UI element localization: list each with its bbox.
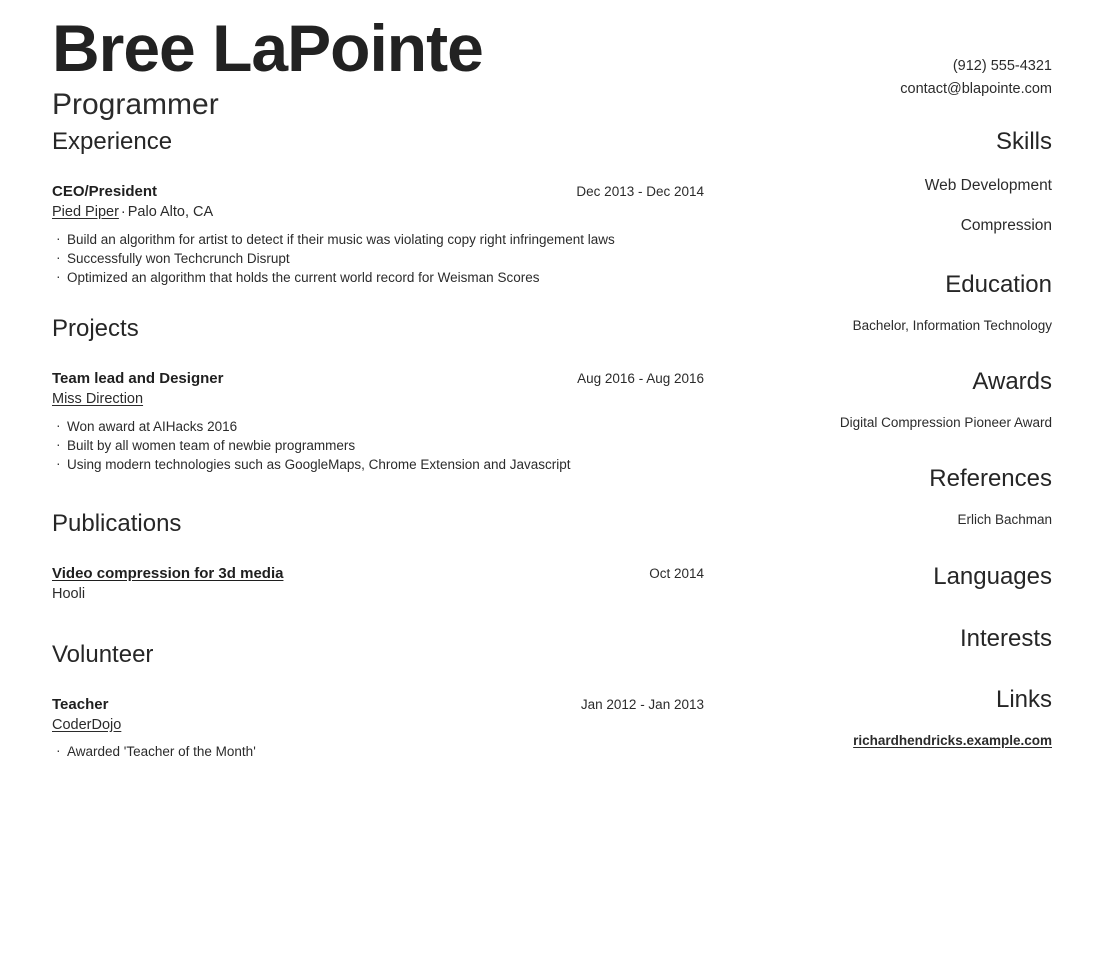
resume-header: Bree LaPointe Programmer (912) 555-4321 …	[52, 0, 1052, 128]
entry-date: Oct 2014	[649, 565, 704, 583]
reference-item: Erlich Bachman	[740, 510, 1052, 530]
entry-header: CEO/President Dec 2013 - Dec 2014	[52, 182, 704, 202]
contact-block: (912) 555-4321 contact@blapointe.com	[900, 55, 1052, 102]
section-heading-awards: Awards	[740, 368, 1052, 397]
section-heading-publications: Publications	[52, 510, 704, 539]
entry-highlights: Won award at AIHacks 2016 Built by all w…	[52, 417, 704, 474]
section-projects: Projects Team lead and Designer Aug 2016…	[52, 315, 704, 474]
volunteer-entry: Teacher Jan 2012 - Jan 2013 CoderDojo Aw…	[52, 695, 704, 762]
entry-position: Teacher	[52, 695, 108, 715]
contact-phone[interactable]: (912) 555-4321	[900, 55, 1052, 78]
entry-date: Aug 2016 - Aug 2016	[577, 370, 704, 388]
side-column: Skills Web Development Compression Educa…	[704, 128, 1052, 784]
section-volunteer: Volunteer Teacher Jan 2012 - Jan 2013 Co…	[52, 641, 704, 762]
entry-date: Dec 2013 - Dec 2014	[576, 183, 704, 201]
award-item: Digital Compression Pioneer Award	[740, 413, 1052, 433]
section-heading-references: References	[740, 465, 1052, 494]
section-heading-languages: Languages	[740, 563, 1052, 592]
highlight-item: Built by all women team of newbie progra…	[52, 436, 704, 455]
publication-publisher: Hooli	[52, 585, 704, 605]
entry-subtitle: Miss Direction	[52, 390, 704, 410]
highlight-item: Won award at AIHacks 2016	[52, 417, 704, 436]
entry-organization-link[interactable]: CoderDojo	[52, 717, 121, 733]
education-item: Bachelor, Information Technology	[740, 316, 1052, 336]
highlight-item: Successfully won Techcrunch Disrupt	[52, 249, 704, 268]
section-links: Links richardhendricks.example.com	[740, 686, 1052, 750]
entry-subtitle: Pied Piper·Palo Alto, CA	[52, 203, 704, 223]
highlight-item: Using modern technologies such as Google…	[52, 455, 704, 474]
section-awards: Awards Digital Compression Pioneer Award	[740, 368, 1052, 432]
entry-separator: ·	[119, 204, 128, 220]
section-education: Education Bachelor, Information Technolo…	[740, 271, 1052, 335]
entry-header: Teacher Jan 2012 - Jan 2013	[52, 695, 704, 715]
section-interests: Interests	[740, 625, 1052, 654]
entry-location: Palo Alto, CA	[128, 204, 213, 220]
section-heading-interests: Interests	[740, 625, 1052, 654]
entry-organization-link[interactable]: Pied Piper	[52, 204, 119, 220]
entry-organization-link[interactable]: Miss Direction	[52, 391, 143, 407]
entry-position: CEO/President	[52, 182, 157, 202]
entry-header: Video compression for 3d media Oct 2014	[52, 564, 704, 584]
entry-position: Team lead and Designer	[52, 369, 223, 389]
highlight-item: Build an algorithm for artist to detect …	[52, 230, 704, 249]
section-experience: Experience CEO/President Dec 2013 - Dec …	[52, 128, 704, 287]
project-entry: Team lead and Designer Aug 2016 - Aug 20…	[52, 369, 704, 474]
entry-date: Jan 2012 - Jan 2013	[581, 696, 704, 714]
website-link[interactable]: richardhendricks.example.com	[740, 731, 1052, 751]
section-skills: Skills Web Development Compression	[740, 128, 1052, 238]
entry-highlights: Build an algorithm for artist to detect …	[52, 230, 704, 287]
section-heading-projects: Projects	[52, 315, 704, 344]
highlight-item: Optimized an algorithm that holds the cu…	[52, 268, 704, 287]
contact-email[interactable]: contact@blapointe.com	[900, 78, 1052, 101]
highlight-item: Awarded 'Teacher of the Month'	[52, 742, 704, 761]
section-heading-education: Education	[740, 271, 1052, 300]
section-heading-links: Links	[740, 686, 1052, 715]
skill-item: Compression	[740, 215, 1052, 237]
section-heading-skills: Skills	[740, 128, 1052, 157]
section-publications: Publications Video compression for 3d me…	[52, 510, 704, 605]
publication-title-link[interactable]: Video compression for 3d media	[52, 564, 283, 584]
section-languages: Languages	[740, 563, 1052, 592]
section-heading-volunteer: Volunteer	[52, 641, 704, 670]
main-column: Experience CEO/President Dec 2013 - Dec …	[52, 128, 704, 792]
experience-entry: CEO/President Dec 2013 - Dec 2014 Pied P…	[52, 182, 704, 287]
section-references: References Erlich Bachman	[740, 465, 1052, 529]
resume-body: Experience CEO/President Dec 2013 - Dec …	[52, 128, 1052, 792]
skill-item: Web Development	[740, 175, 1052, 197]
entry-subtitle: CoderDojo	[52, 716, 704, 736]
entry-highlights: Awarded 'Teacher of the Month'	[52, 742, 704, 761]
entry-header: Team lead and Designer Aug 2016 - Aug 20…	[52, 369, 704, 389]
publication-entry: Video compression for 3d media Oct 2014 …	[52, 564, 704, 605]
resume-page: Bree LaPointe Programmer (912) 555-4321 …	[0, 0, 1104, 963]
section-heading-experience: Experience	[52, 128, 704, 157]
